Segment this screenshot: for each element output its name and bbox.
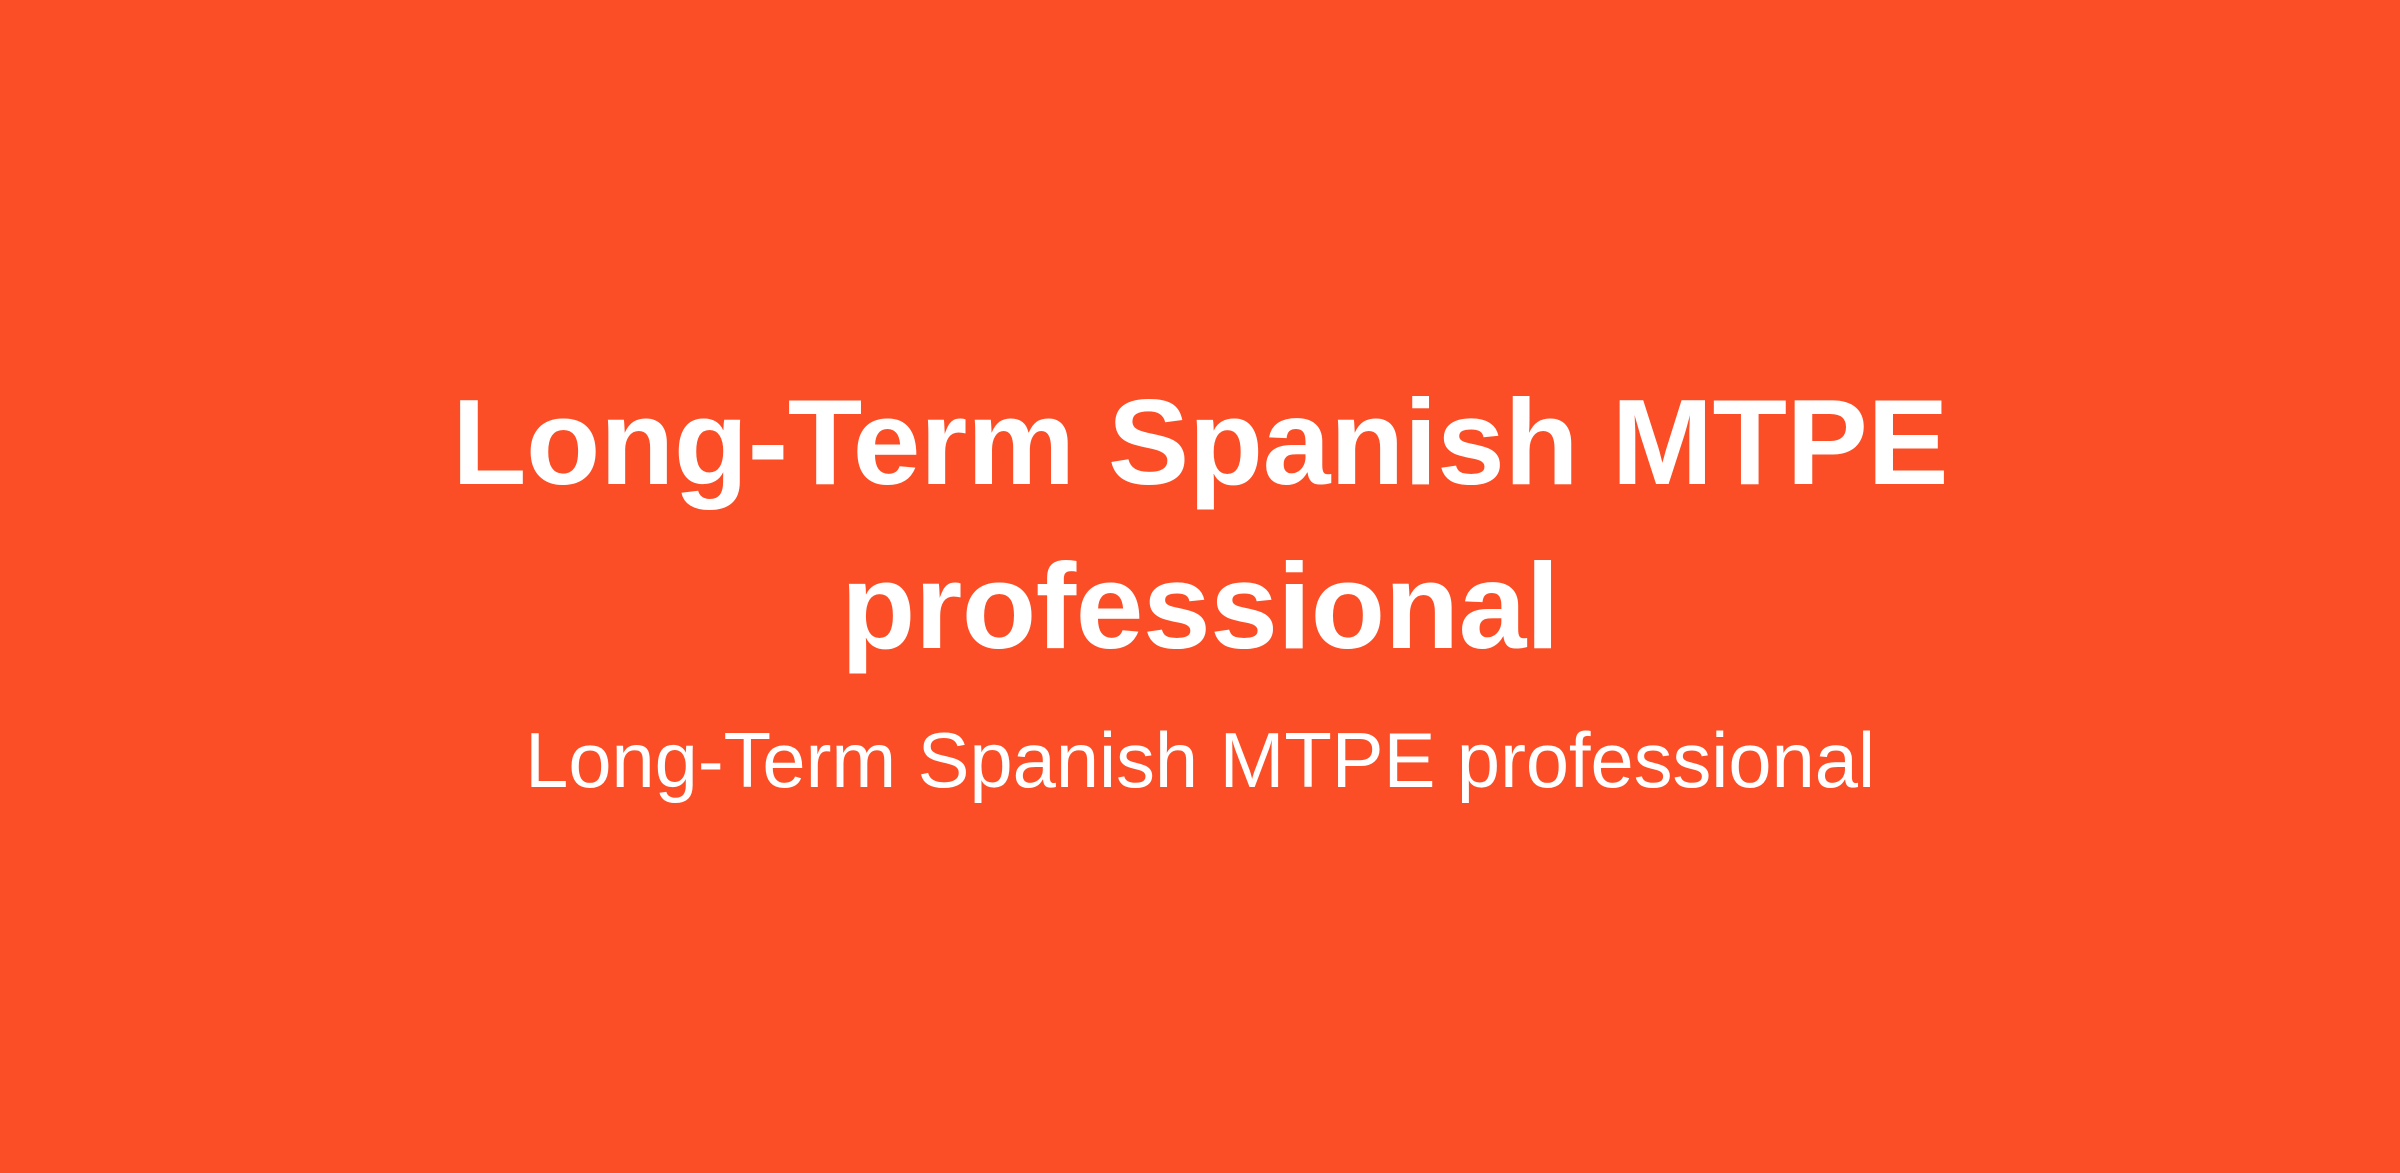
- page-title: Long-Term Spanish MTPE professional: [420, 361, 1980, 688]
- hero-card: Long-Term Spanish MTPE professional Long…: [0, 0, 2400, 1173]
- page-subtitle: Long-Term Spanish MTPE professional: [525, 710, 1875, 811]
- hero-content: Long-Term Spanish MTPE professional Long…: [420, 361, 1980, 811]
